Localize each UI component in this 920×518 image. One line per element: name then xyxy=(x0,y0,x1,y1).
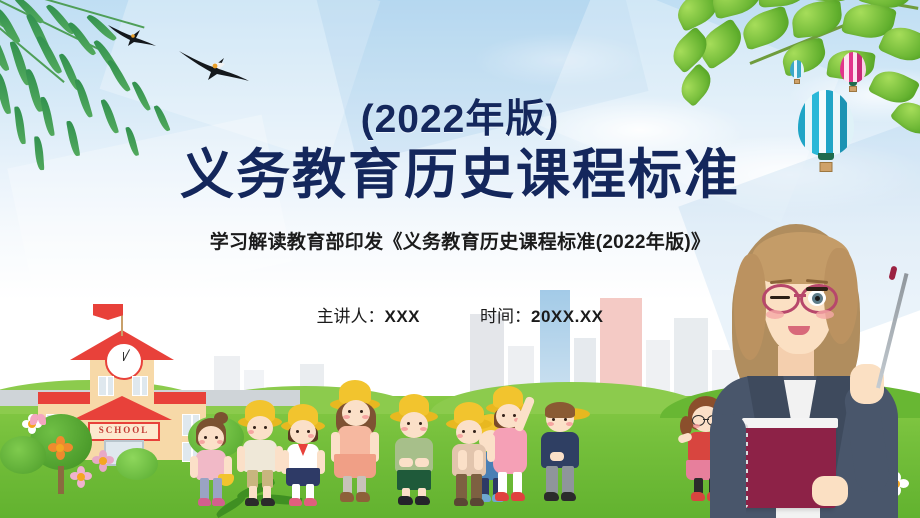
child-eye xyxy=(473,430,476,433)
child-leg xyxy=(456,474,467,500)
page-title: 义务教育历史课程标准 xyxy=(0,145,920,205)
child-shoe xyxy=(415,496,430,505)
leaf-icon xyxy=(779,37,829,77)
child-head xyxy=(400,412,428,438)
child-leg xyxy=(562,466,574,494)
leaf-icon xyxy=(738,5,794,50)
flower-icon xyxy=(48,436,72,460)
teacher-blush xyxy=(816,310,834,319)
butterfly-icon xyxy=(30,414,46,426)
child-eye xyxy=(360,410,363,413)
child-arm xyxy=(474,450,483,470)
child-hair-bun xyxy=(214,412,228,424)
flower-center xyxy=(99,457,107,465)
child-eye xyxy=(564,418,567,421)
child-shoe xyxy=(245,498,259,506)
child-torso xyxy=(338,426,372,456)
school-window xyxy=(98,376,114,396)
child-eye xyxy=(407,422,410,425)
school-window xyxy=(132,376,148,396)
child-head xyxy=(456,420,482,444)
flower-icon xyxy=(70,466,92,488)
hot-air-balloon-icon xyxy=(840,52,866,90)
child-leg xyxy=(513,472,522,494)
teacher-figure xyxy=(704,218,914,518)
child-head xyxy=(290,420,316,444)
clock-icon xyxy=(105,342,143,380)
leaf-icon xyxy=(107,58,131,94)
teacher-eye-closed xyxy=(770,296,790,299)
child-shoe xyxy=(261,498,275,506)
presenter-value: XXX xyxy=(384,307,420,326)
teacher-blush xyxy=(766,310,784,319)
teacher-eyelash xyxy=(806,287,828,291)
child-figure xyxy=(326,384,382,510)
school-sign: SCHOOL xyxy=(88,422,160,441)
poster-canvas: SCHOOL xyxy=(0,0,920,518)
balloon-envelope xyxy=(840,52,866,83)
flower-center xyxy=(56,444,64,452)
child-shoe xyxy=(398,496,413,505)
balloon-basket xyxy=(849,86,857,92)
swallow-icon xyxy=(176,46,252,84)
child-leg xyxy=(213,478,222,500)
child-arm xyxy=(237,446,245,472)
balloon-stripe xyxy=(801,60,805,78)
child-cheek xyxy=(693,424,700,428)
child-eye xyxy=(215,436,218,439)
child-arm xyxy=(550,452,564,461)
child-shoe xyxy=(495,492,509,501)
child-eye xyxy=(264,426,267,429)
child-shoe xyxy=(198,498,211,506)
child-torso xyxy=(395,438,433,472)
swallow-icon xyxy=(106,22,158,48)
child-shoe xyxy=(561,492,576,501)
child-arm xyxy=(458,450,467,470)
child-torso xyxy=(493,428,527,474)
pointer-tip xyxy=(888,265,897,280)
child-figure xyxy=(386,392,442,510)
child-hair xyxy=(545,402,575,418)
presenter-label: 主讲人： xyxy=(316,307,384,326)
child-eye xyxy=(204,436,207,439)
date-label: 时间： xyxy=(480,307,531,326)
child-shoe xyxy=(691,492,705,501)
child-cheek xyxy=(457,434,463,438)
child-arm xyxy=(487,434,495,462)
child-shoe xyxy=(544,492,559,501)
balloon-basket xyxy=(794,79,800,84)
child-shoe xyxy=(356,492,370,502)
child-skirt xyxy=(286,468,320,486)
leaf-icon xyxy=(790,0,843,39)
child-figure xyxy=(486,386,540,510)
child-shoe xyxy=(304,498,317,506)
child-eye xyxy=(419,422,422,425)
child-eye xyxy=(307,430,310,433)
child-cheek xyxy=(199,440,205,444)
child-figure xyxy=(534,390,590,510)
child-shoe xyxy=(470,498,484,506)
child-cheek xyxy=(566,422,573,426)
child-leg xyxy=(498,472,507,494)
balloon-envelope xyxy=(790,60,804,78)
child-cheek xyxy=(217,440,223,444)
pointer-stick-icon xyxy=(876,273,908,388)
child-torso xyxy=(541,432,579,468)
child-eye xyxy=(513,414,516,417)
child-cheek xyxy=(547,422,554,426)
child-leg xyxy=(471,474,482,500)
child-shoe xyxy=(289,498,302,506)
date-field: 时间：20XX.XX xyxy=(480,302,604,327)
child-cheek xyxy=(343,415,350,419)
child-head xyxy=(247,416,273,440)
child-figure xyxy=(188,418,234,510)
teacher-arm xyxy=(710,414,746,518)
child-arm xyxy=(399,458,413,467)
child-leg xyxy=(200,478,209,500)
child-figure xyxy=(280,402,326,510)
child-cheek xyxy=(401,427,408,431)
child-arm xyxy=(190,456,198,478)
child-eye xyxy=(552,418,555,421)
child-eye xyxy=(462,430,465,433)
child-eye xyxy=(296,430,299,433)
bush xyxy=(116,448,158,480)
leaf-icon xyxy=(0,32,10,73)
child-shoe xyxy=(454,498,468,506)
child-skirt xyxy=(334,454,376,478)
child-eye xyxy=(253,426,256,429)
child-shoe xyxy=(212,498,225,506)
date-value: 20XX.XX xyxy=(531,307,604,326)
child-head xyxy=(342,400,370,426)
flower-center xyxy=(77,473,85,481)
child-figure xyxy=(236,400,284,510)
child-cheek xyxy=(420,427,427,431)
teacher-pupil xyxy=(815,296,820,301)
child-shorts xyxy=(397,470,431,490)
flower-icon xyxy=(92,450,114,472)
bush xyxy=(0,436,46,474)
child-eye xyxy=(502,414,505,417)
child-cheek xyxy=(362,415,369,419)
child-arm xyxy=(415,458,429,467)
balloon-stripe xyxy=(862,52,866,83)
presenter-field: 主讲人：XXX xyxy=(316,302,420,327)
leaf-icon xyxy=(0,6,21,46)
child-shoe xyxy=(340,492,354,502)
tree-trunk xyxy=(58,466,64,494)
school-entrance-roof xyxy=(72,396,172,420)
hot-air-balloon-icon xyxy=(790,60,804,82)
notebook-pages xyxy=(742,418,838,428)
child-leg xyxy=(546,466,558,494)
edition-year-line: (2022年版) xyxy=(0,100,920,141)
child-eye xyxy=(348,410,351,413)
child-cheek xyxy=(248,430,254,434)
teacher-hand xyxy=(812,476,848,506)
leaf-icon xyxy=(67,20,96,58)
child-cheek xyxy=(308,434,314,438)
child-shoe xyxy=(511,492,525,501)
child-head xyxy=(198,426,224,450)
child-torso xyxy=(243,440,277,472)
